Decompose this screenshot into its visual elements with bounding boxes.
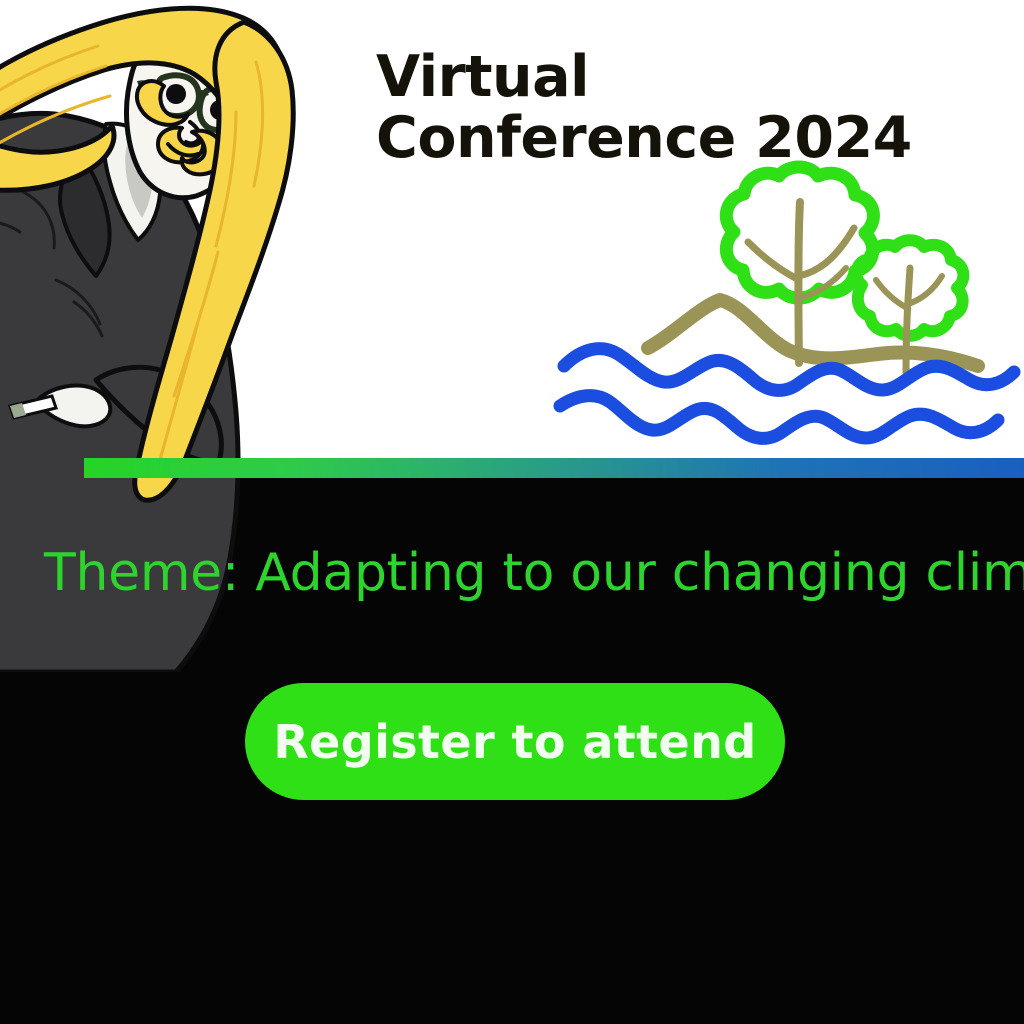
large-tree-branch-left-icon (748, 242, 799, 280)
gradient-divider (84, 458, 1024, 478)
register-to-attend-button[interactable]: Register to attend (245, 683, 785, 800)
water-wave-lower-icon (560, 396, 998, 439)
small-tree-branch-right-icon (908, 276, 942, 304)
left-eye-icon (166, 84, 186, 104)
theme-text: Theme: Adapting to our changing climate (44, 543, 1004, 603)
page-title: Virtual Conference 2024 (376, 47, 996, 169)
small-tree-branch-left-icon (876, 280, 907, 308)
conference-poster: Virtual Conference 2024 Theme: Adapting … (0, 0, 1024, 1024)
small-tree-trunk-icon (906, 268, 910, 372)
trees-and-water-logo (548, 158, 1024, 458)
